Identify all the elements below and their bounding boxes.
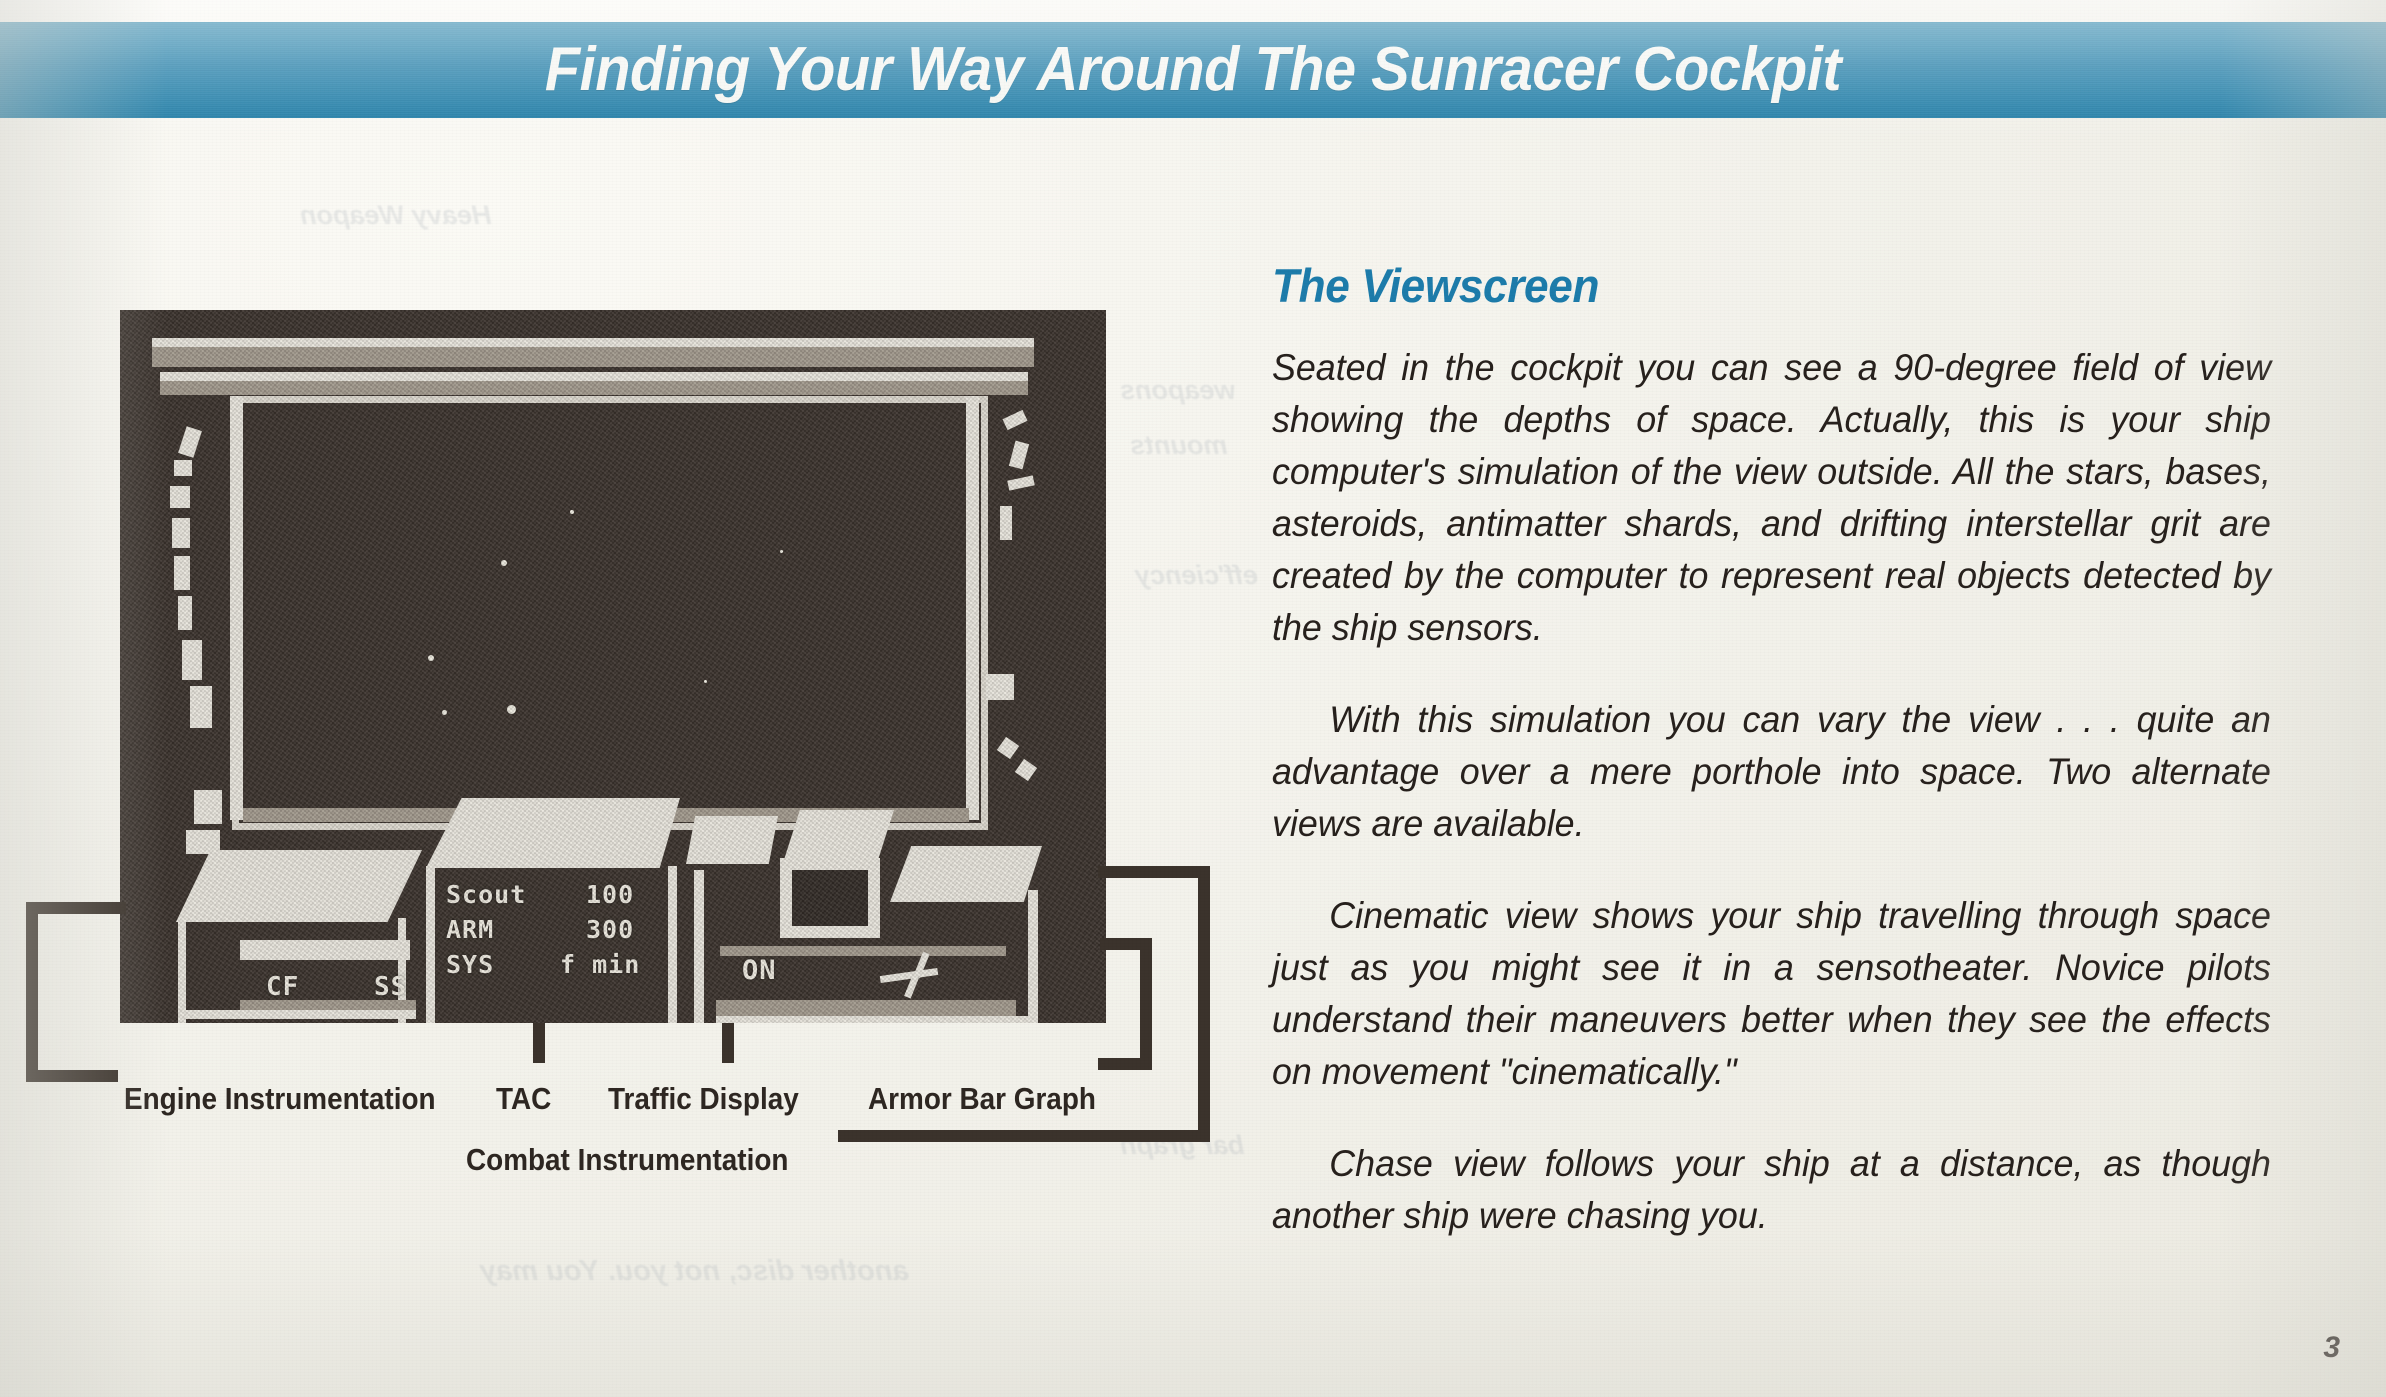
page-number: 3 [2323, 1331, 2340, 1365]
show-through-fragment: another disc, not you. You may [480, 1255, 909, 1288]
callout-tac: TAC [496, 1081, 551, 1117]
article-paragraph-2: With this simulation you can vary the vi… [1272, 693, 2271, 849]
leader-engine-left [26, 902, 38, 1082]
leader-combat-right [1198, 866, 1210, 1142]
leader-combat-top [1098, 866, 1210, 878]
show-through-fragment: weapons [1120, 375, 1236, 406]
article-paragraph-4: Chase view follows your ship at a distan… [1272, 1137, 2271, 1241]
leader-combat-bottom [838, 1130, 1210, 1142]
article-paragraph-1: Seated in the cockpit you can see a 90-d… [1272, 341, 2271, 653]
article-column: The Viewscreen Seated in the cockpit you… [1272, 258, 2272, 1281]
leader-engine-bottom [26, 1070, 118, 1082]
show-through-fragment: Heavy Weapon [300, 200, 492, 231]
callout-combat-instrumentation: Combat Instrumentation [466, 1142, 788, 1178]
callout-traffic-display: Traffic Display [608, 1081, 799, 1117]
leader-tac [533, 1023, 545, 1063]
show-through-fragment: mounts [1130, 430, 1228, 461]
manual-page: Finding Your Way Around The Sunracer Coc… [0, 0, 2386, 1397]
callout-armor-bar-graph: Armor Bar Graph [868, 1081, 1096, 1117]
page-header-banner: Finding Your Way Around The Sunracer Coc… [0, 22, 2386, 118]
section-subhead: The Viewscreen [1272, 258, 2212, 313]
leader-armor-bottom [1098, 1058, 1152, 1070]
leader-engine-top [26, 902, 126, 914]
cockpit-photo: CF SS Scout 100 ARM 300 SYS f min ON [120, 310, 1106, 1023]
leader-traffic [722, 1023, 734, 1063]
callout-engine-instrumentation: Engine Instrumentation [124, 1081, 436, 1117]
show-through-fragment: eff'ciency [1135, 560, 1258, 591]
article-paragraph-3: Cinematic view shows your ship travellin… [1272, 889, 2271, 1097]
leader-armor-right [1140, 938, 1152, 1070]
page-title: Finding Your Way Around The Sunracer Coc… [84, 22, 2303, 118]
photo-scan-texture [120, 310, 1106, 1023]
